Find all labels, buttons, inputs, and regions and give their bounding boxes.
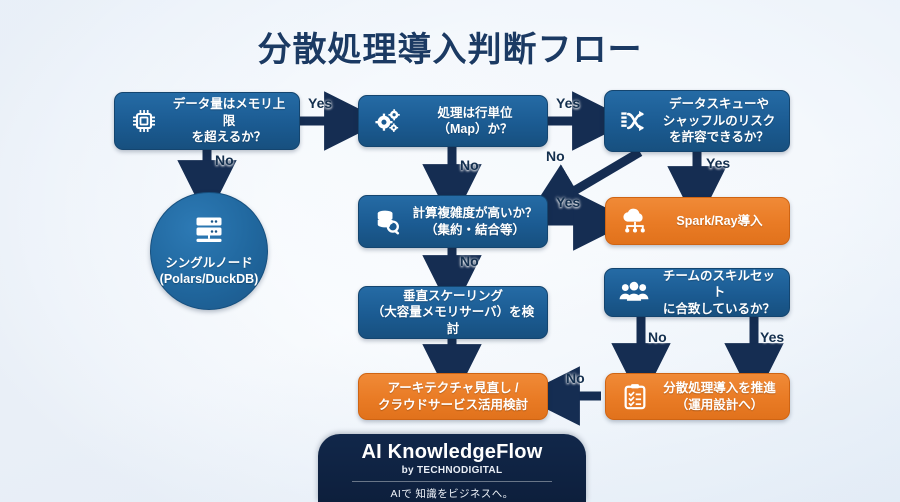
node-promote-distributed[interactable]: 分散処理導入を推進 （運用設計へ） [605,373,790,420]
node-vertical-scaling[interactable]: 垂直スケーリング （大容量メモリサーバ）を検討 [358,286,548,339]
footer-divider [352,481,552,482]
footer-brand-bar: AI KnowledgeFlow by TECHNODIGITAL AIで 知識… [318,434,586,502]
flowchart-canvas: 分散処理導入判断フロー [0,0,900,502]
node-team-skillset-label: チームのスキルセット に合致しているか？ [655,268,789,318]
edge-label-skillset-no: No [648,329,667,345]
node-complexity[interactable]: 計算複雑度が高いか？ （集約・結合等） [358,195,548,248]
node-spark-ray-label: Spark/Ray導入 [656,213,789,230]
shuffle-icon [613,107,655,135]
footer-brand-name: AI KnowledgeFlow [318,441,586,464]
node-promote-distributed-label: 分散処理導入を推進 （運用設計へ） [656,380,789,413]
edge-label-promote-no-back: No [566,370,585,386]
cpu-chip-icon [123,107,165,135]
database-search-icon [367,208,409,236]
footer-company: by TECHNODIGITAL [318,465,586,476]
edge-label-data-volume-no: No [215,152,234,168]
edge-label-row-unit-yes: Yes [556,95,580,111]
edge-label-skew-risk-no: No [546,148,565,164]
clipboard-check-icon [614,383,656,411]
node-complexity-label: 計算複雑度が高いか？ （集約・結合等） [409,205,547,238]
edge-label-complexity-yes: Yes [556,194,580,210]
edge-label-data-volume-yes: Yes [308,95,332,111]
edge-label-complexity-no: No [460,253,479,269]
node-vertical-scaling-label: 垂直スケーリング （大容量メモリサーバ）を検討 [359,288,547,338]
footer-tagline: AIで 知識をビジネスへ。 [318,486,586,501]
node-architecture-review[interactable]: アーキテクチャ見直し / クラウドサービス活用検討 [358,373,548,420]
edge-label-skillset-yes: Yes [760,329,784,345]
node-data-volume[interactable]: データ量はメモリ上限 を超えるか？ [114,92,300,150]
edge-label-skew-risk-yes: Yes [706,155,730,171]
edge-label-row-unit-no: No [460,157,479,173]
node-architecture-review-label: アーキテクチャ見直し / クラウドサービス活用検討 [359,380,547,413]
node-skew-risk-label: データスキューや シャッフルのリスク を許容できるか？ [655,96,789,146]
node-team-skillset[interactable]: チームのスキルセット に合致しているか？ [604,268,790,317]
node-single-node[interactable]: シングルノード (Polars/DuckDB) [150,192,268,310]
arrow-layer [0,0,900,502]
node-spark-ray[interactable]: Spark/Ray導入 [605,197,790,245]
node-skew-risk[interactable]: データスキューや シャッフルのリスク を許容できるか？ [604,90,790,152]
node-data-volume-label: データ量はメモリ上限 を超えるか？ [165,96,299,146]
cloud-network-icon [614,207,656,235]
node-row-unit-label: 処理は行単位 （Map）か？ [409,105,547,138]
server-stack-icon [192,215,226,250]
people-group-icon [613,280,655,306]
node-single-node-label: シングルノード (Polars/DuckDB) [160,255,259,288]
node-row-unit[interactable]: 処理は行単位 （Map）か？ [358,95,548,147]
gears-icon [367,107,409,135]
